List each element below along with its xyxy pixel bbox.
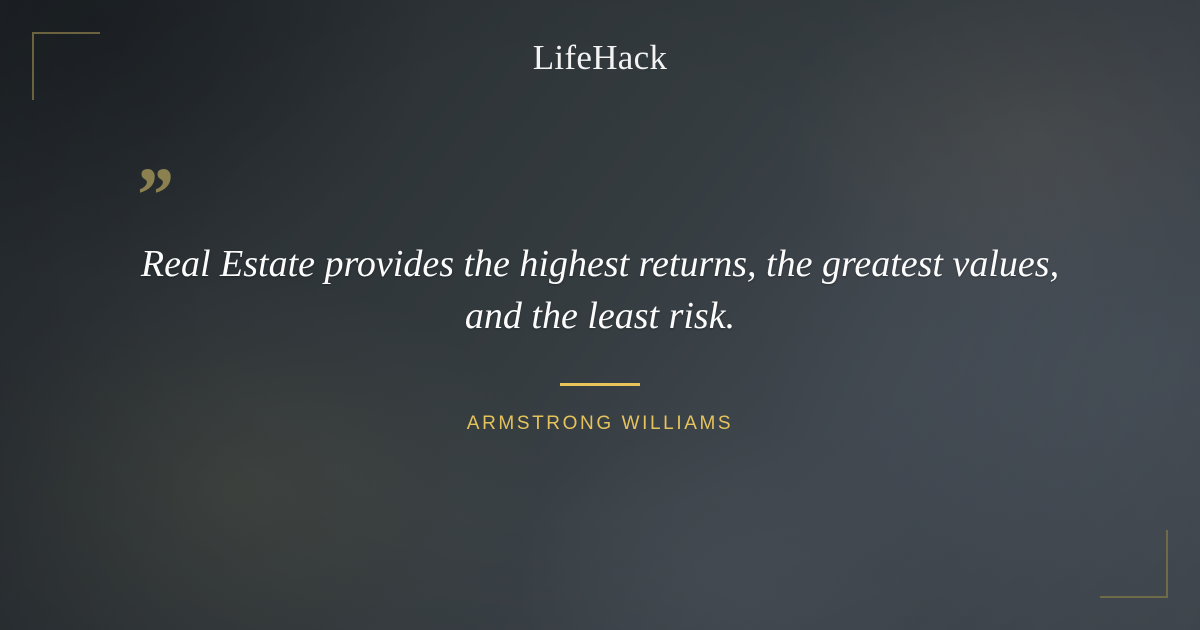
quote-card: LifeHack ” Real Estate provides the high… bbox=[0, 0, 1200, 630]
quote-line-1: Real Estate provides the highest returns… bbox=[100, 238, 1100, 290]
quote-line-2: and the least risk. bbox=[100, 290, 1100, 342]
divider-rule bbox=[560, 383, 640, 386]
quote-content: ” Real Estate provides the highest retur… bbox=[0, 0, 1200, 630]
quotation-mark-icon: ” bbox=[133, 156, 170, 234]
quote-text: Real Estate provides the highest returns… bbox=[100, 238, 1100, 342]
quote-author: ARMSTRONG WILLIAMS bbox=[0, 413, 1200, 435]
